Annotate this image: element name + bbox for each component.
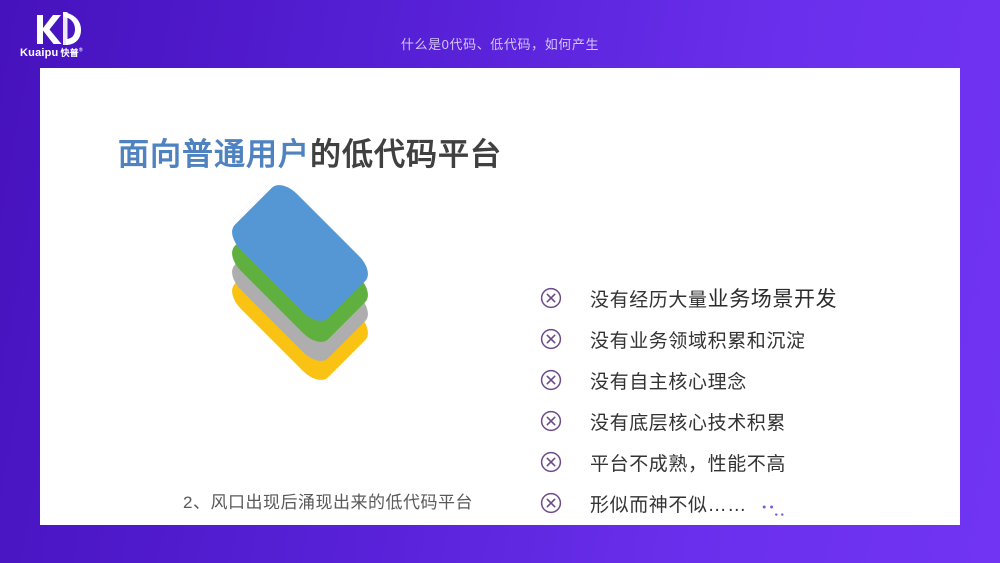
page-title: 面向普通用户的低代码平台 <box>118 129 502 174</box>
list-item: 没有自主核心理念 <box>540 360 960 400</box>
logo-latin: Kuaipu <box>20 47 58 59</box>
diagram-caption: 2、风口出现后涌现出来的低代码平台 <box>148 488 508 513</box>
header-caption: 什么是0代码、低代码，如何产生 <box>0 34 1000 53</box>
logo-wordmark: Kuaipu快普® <box>20 46 110 60</box>
page-title-accent: 面向普通用户 <box>118 137 310 172</box>
list-item: 没有经历大量业务场景开发 <box>540 278 960 318</box>
list-item-text: 没有业务领域积累和沉淀 <box>590 326 806 353</box>
kp-monogram-icon <box>32 10 90 48</box>
bullet-list: 没有经历大量业务场景开发 没有业务领域积累和沉淀 <box>540 278 960 524</box>
list-item: 没有底层核心技术积累 <box>540 401 960 441</box>
logo-chinese: 快普 <box>60 48 78 58</box>
list-item: 没有业务领域积累和沉淀 <box>540 319 960 359</box>
page-title-plain: 的低代码平台 <box>310 137 502 172</box>
presentation-slide: Kuaipu快普® 什么是0代码、低代码，如何产生 面向普通用户的低代码平台 2… <box>0 0 1000 563</box>
wechat-icon <box>755 498 789 528</box>
list-item-text: 没有经历大量业务场景开发 <box>590 283 837 313</box>
list-item: 平台不成熟，性能不高 <box>540 442 960 482</box>
layered-stack-diagram <box>185 190 415 405</box>
list-item-text: 平台不成熟，性能不高 <box>590 449 786 476</box>
wechat-watermark: 微信号: kuaipu <box>755 498 927 528</box>
circle-x-icon <box>540 492 562 514</box>
circle-x-icon <box>540 410 562 432</box>
logo-trademark: ® <box>79 47 83 53</box>
circle-x-icon <box>540 287 562 309</box>
circle-x-icon <box>540 369 562 391</box>
list-item-text: 没有底层核心技术积累 <box>590 408 786 435</box>
circle-x-icon <box>540 451 562 473</box>
circle-x-icon <box>540 328 562 350</box>
brand-logo: Kuaipu快普® <box>18 10 110 62</box>
wechat-handle: 微信号: kuaipu <box>798 500 927 527</box>
content-card: 面向普通用户的低代码平台 2、风口出现后涌现出来的低代码平台 没有经历大量业务场… <box>40 68 960 525</box>
list-item-text: 形似而神不似…… <box>590 490 747 517</box>
list-item-text: 没有自主核心理念 <box>590 367 747 394</box>
